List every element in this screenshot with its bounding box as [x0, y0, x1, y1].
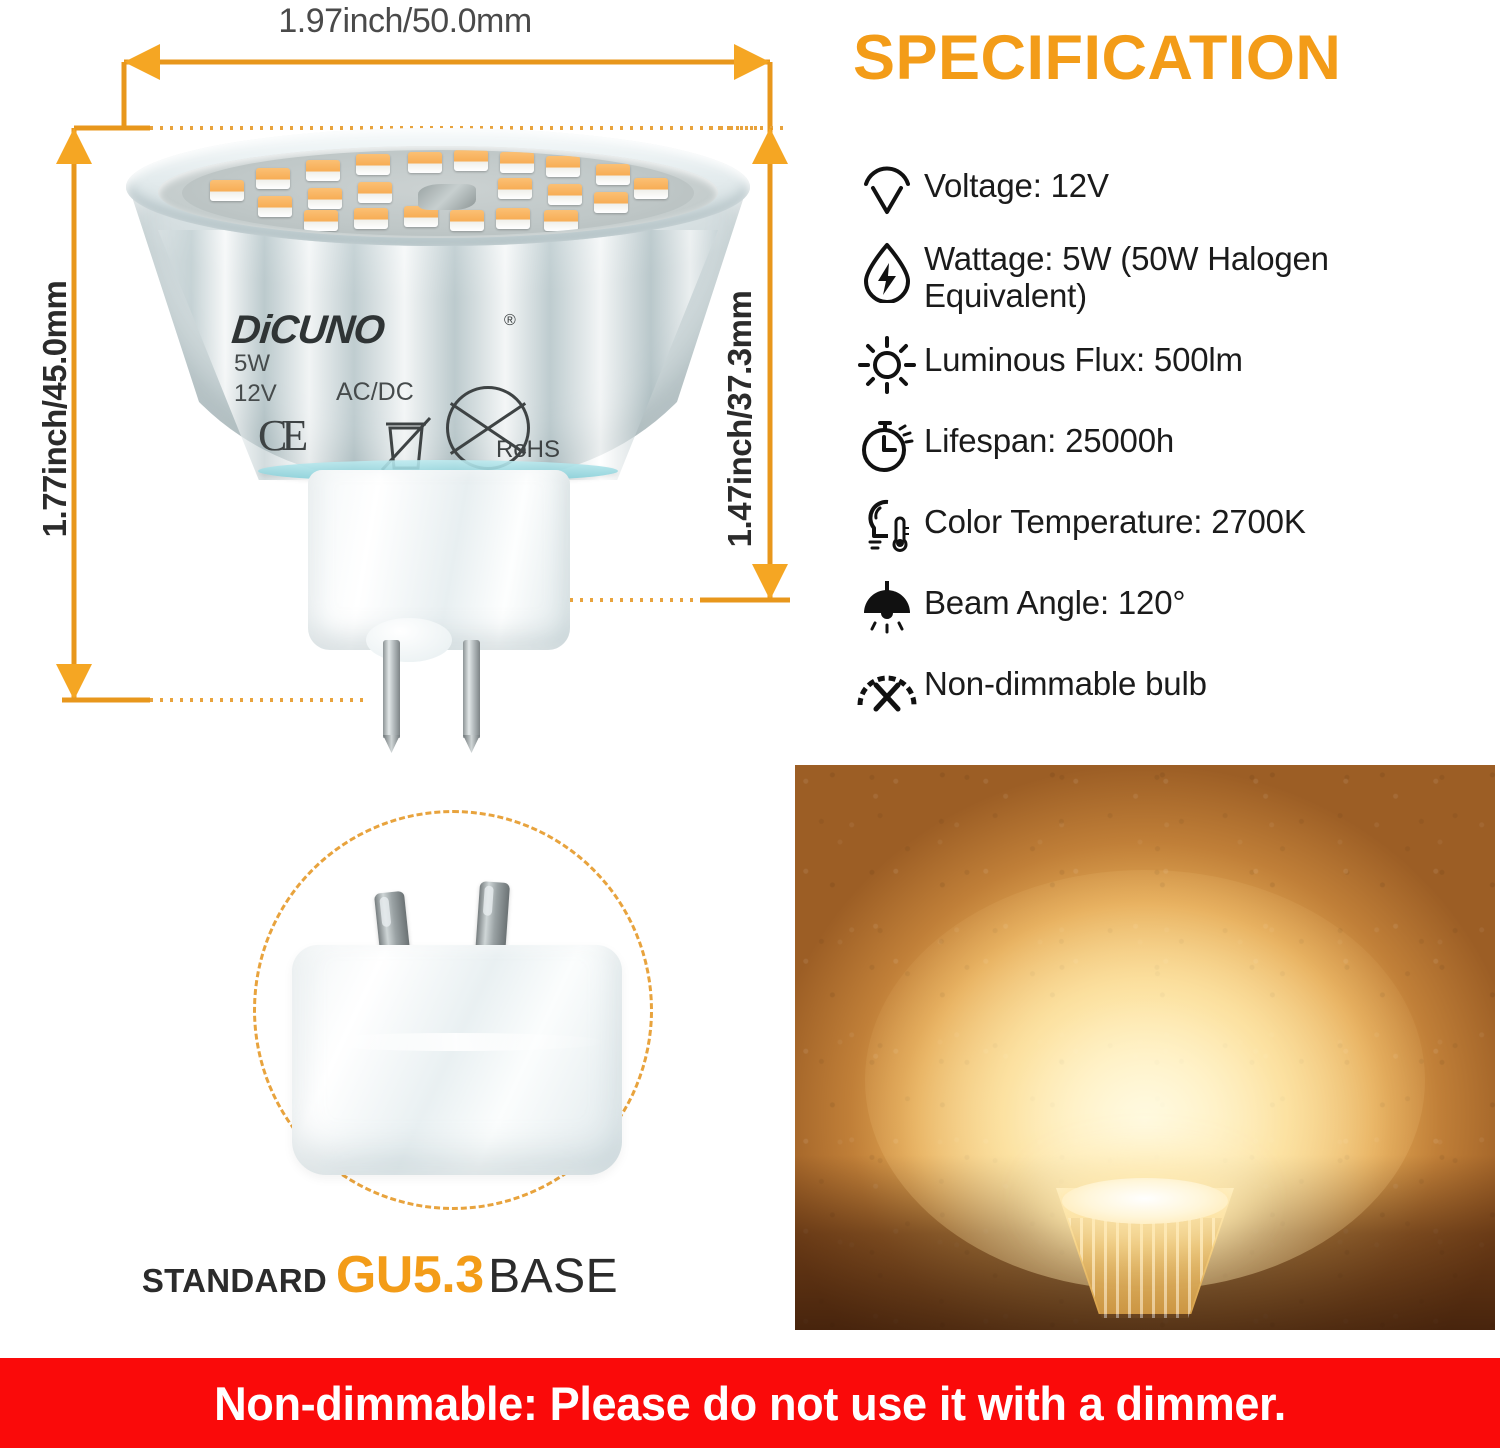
rohs-mark: RoHS: [496, 436, 560, 464]
dimension-panel: DiCUNO ® 5W 12V AC/DC CE RoHS: [0, 0, 800, 752]
base-caption-suffix: BASE: [488, 1250, 618, 1303]
bulb-ribs: [1068, 1218, 1222, 1318]
bulb-thermometer-icon: [850, 496, 924, 558]
bulb-base-bulge: [366, 618, 452, 662]
printed-label: DiCUNO ® 5W 12V AC/DC CE RoHS: [218, 308, 638, 468]
label-wattage: 5W: [234, 350, 270, 378]
led-board: [182, 150, 694, 236]
stopwatch-icon: [850, 415, 924, 477]
ce-mark-icon: CE: [258, 410, 302, 461]
bulb-pin-right: [463, 640, 480, 738]
specification-title: SPECIFICATION: [853, 22, 1341, 94]
bulb-head: DiCUNO ® 5W 12V AC/DC CE RoHS: [118, 120, 758, 480]
illuminated-bulb: [1050, 1170, 1240, 1330]
led-center-connector: [418, 184, 476, 210]
gu53-base-photo: [280, 890, 630, 1180]
lit-bulb-photo: [795, 765, 1495, 1330]
product-photo-mr16-bulb: DiCUNO ® 5W 12V AC/DC CE RoHS: [118, 120, 758, 720]
spec-text-luminous-flux: Luminous Flux: 500lm: [924, 334, 1243, 379]
dimension-label-height-head: 1.47inch/37.3mm: [721, 264, 759, 574]
voltage-icon: [850, 160, 924, 222]
label-current-type: AC/DC: [336, 378, 414, 407]
spec-item-wattage: Wattage: 5W (50W Halogen Equivalent): [850, 241, 1500, 315]
spec-item-color-temperature: Color Temperature: 2700K: [850, 496, 1500, 558]
warning-banner: Non-dimmable: Please do not use it with …: [0, 1358, 1500, 1448]
spec-item-voltage: Voltage: 12V: [850, 160, 1500, 222]
specification-panel: SPECIFICATION Voltage: 12V: [800, 0, 1500, 752]
pendant-lamp-icon: [850, 577, 924, 639]
spec-item-luminous-flux: Luminous Flux: 500lm: [850, 334, 1500, 396]
brand-logo: DiCUNO: [230, 308, 387, 353]
bulb-light-face: [1062, 1178, 1228, 1224]
dimension-label-width: 1.97inch/50.0mm: [170, 2, 640, 41]
bulb-pin-left: [383, 640, 400, 738]
label-voltage: 12V: [234, 380, 277, 408]
base-closeup-panel: STANDARD GU5.3 BASE: [0, 760, 760, 1340]
no-dimmer-gauge-icon: [850, 658, 924, 720]
spec-text-beam-angle: Beam Angle: 120°: [924, 577, 1185, 622]
warning-banner-text: Non-dimmable: Please do not use it with …: [30, 1358, 1470, 1448]
spec-text-color-temperature: Color Temperature: 2700K: [924, 496, 1306, 541]
spec-text-lifespan: Lifespan: 25000h: [924, 415, 1174, 460]
spec-text-non-dimmable: Non-dimmable bulb: [924, 658, 1207, 703]
specification-list: Voltage: 12V Wattage: 5W (50W Halogen Eq…: [850, 160, 1500, 739]
spec-item-beam-angle: Beam Angle: 120°: [850, 577, 1500, 639]
spec-text-wattage: Wattage: 5W (50W Halogen Equivalent): [924, 241, 1500, 315]
bulb-base-body: [308, 470, 570, 650]
base-housing: [292, 945, 622, 1175]
spec-item-lifespan: Lifespan: 25000h: [850, 415, 1500, 477]
spec-text-voltage: Voltage: 12V: [924, 160, 1109, 205]
infographic-root: DiCUNO ® 5W 12V AC/DC CE RoHS: [0, 0, 1500, 1448]
base-caption-prefix: STANDARD: [142, 1262, 327, 1299]
registered-mark: ®: [504, 312, 516, 330]
spec-item-non-dimmable: Non-dimmable bulb: [850, 658, 1500, 720]
sun-icon: [850, 334, 924, 396]
power-drop-icon: [850, 241, 924, 303]
base-caption-highlight: GU5.3: [336, 1246, 484, 1304]
base-caption: STANDARD GU5.3 BASE: [0, 1245, 760, 1305]
dimension-label-height-total: 1.77inch/45.0mm: [36, 244, 74, 574]
